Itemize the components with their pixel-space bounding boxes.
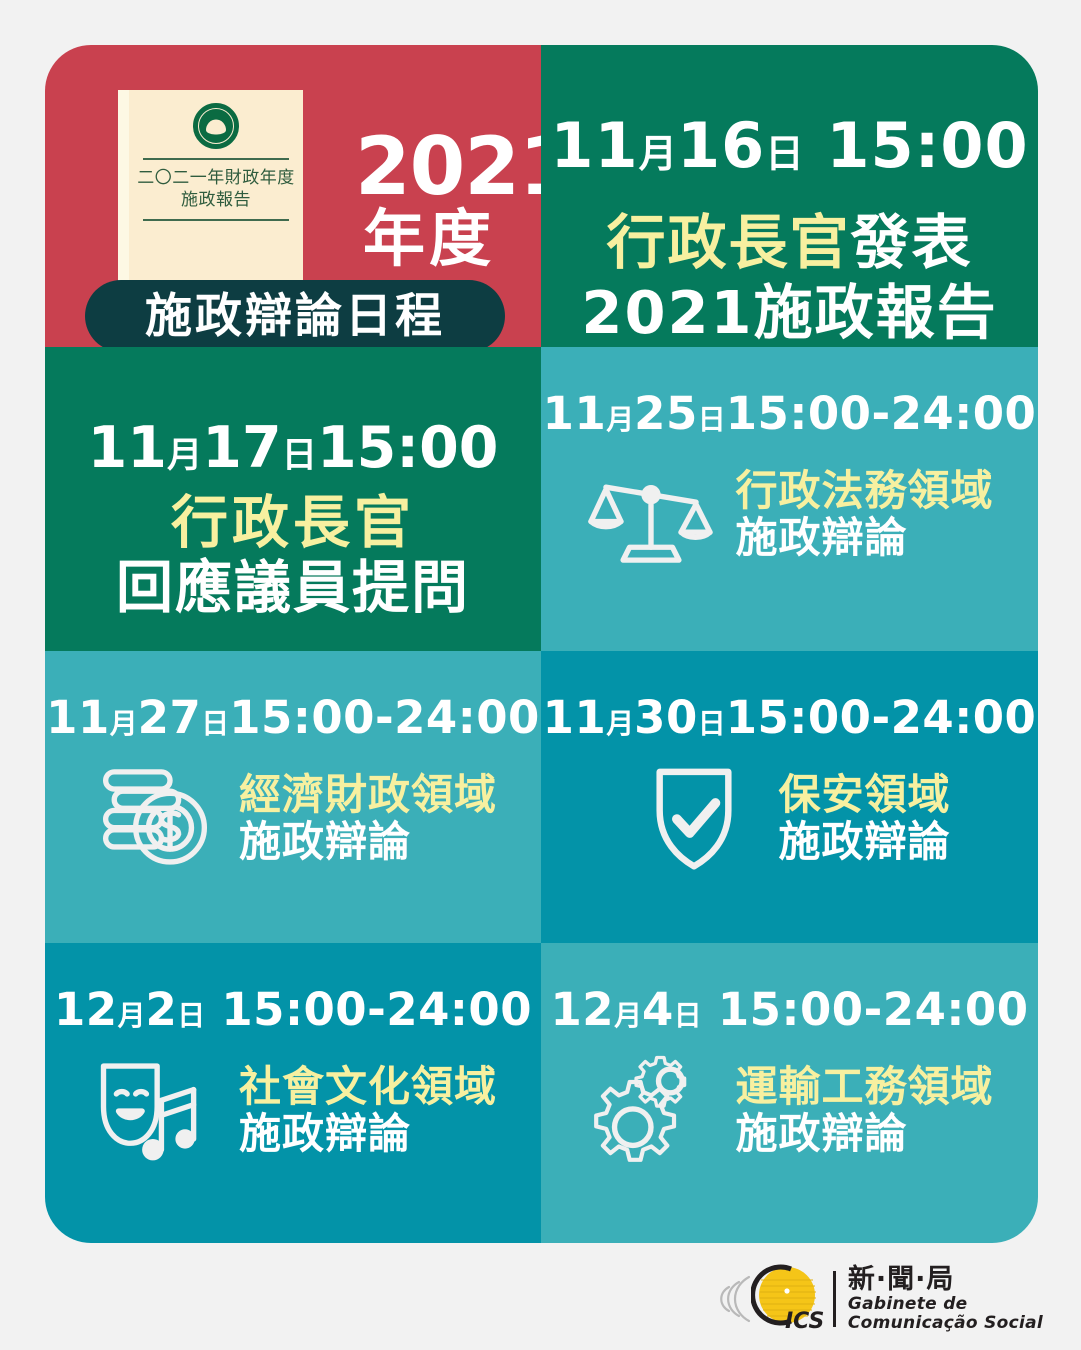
event-line2: 2021施政報告 — [541, 283, 1038, 342]
event-line2: 施政辯論 — [239, 1110, 497, 1157]
book-divider-bottom — [143, 219, 289, 221]
event-date: 12月4日 15:00-24:00 — [541, 987, 1038, 1032]
signal-waves-icon — [715, 1269, 755, 1329]
year-number: 2021 — [355, 127, 541, 207]
event-line1: 行政長官發表 — [541, 213, 1038, 272]
poster-root: 二〇二一年財政年度 施政報告 2021 年度 施政辯論日程 11月16日 15:… — [0, 0, 1081, 1350]
event-body: 行政法務領域 施政辯論 — [541, 455, 1038, 573]
event-body: 保安領域 施政辯論 — [541, 759, 1038, 877]
event-date: 11月17日15:00 — [45, 420, 541, 477]
event-cell-transport-public-works: 12月4日 15:00-24:00 運輸工務領域 施政辯論 — [541, 943, 1038, 1243]
org-name-pt-line2: Comunicação Social — [848, 1314, 1043, 1333]
event-date: 11月16日 15:00 — [541, 115, 1038, 177]
schedule-grid: 二〇二一年財政年度 施政報告 2021 年度 施政辯論日程 11月16日 15:… — [45, 45, 1038, 1243]
shield-check-icon — [628, 759, 760, 877]
event-line1-rest: 發表 — [851, 208, 973, 277]
event-line1: 社會文化領域 — [239, 1063, 497, 1110]
event-cell-ce-presents-report: 11月16日 15:00 行政長官發表 2021施政報告 — [541, 45, 1038, 347]
event-date: 12月2日 15:00-24:00 — [45, 987, 541, 1032]
event-text: 運輸工務領域 施政辯論 — [735, 1063, 993, 1157]
event-line1: 經濟財政領域 — [239, 771, 497, 818]
event-date: 11月30日15:00-24:00 — [541, 695, 1038, 740]
event-cell-ce-answers-questions: 11月17日15:00 行政長官 回應議員提問 — [45, 347, 541, 651]
event-cell-economy-finance: 11月27日15:00-24:00 經濟財政領 — [45, 651, 541, 943]
event-line2: 施政辯論 — [735, 514, 993, 561]
scales-of-justice-icon — [585, 455, 717, 573]
schedule-badge: 施政辯論日程 — [85, 280, 505, 347]
org-name-pt-line1: Gabinete de — [848, 1295, 1043, 1314]
ics-logo: ICS 新·聞·局 Gabinete de Comunicação Social — [715, 1260, 1043, 1338]
event-body: 社會文化領域 施政辯論 — [45, 1051, 541, 1169]
event-text: 經濟財政領域 施政辯論 — [239, 771, 497, 865]
book-title-line1: 二〇二一年財政年度 — [129, 167, 303, 190]
macau-sar-emblem-icon — [193, 103, 239, 149]
book-divider-top — [143, 158, 289, 160]
event-text: 保安領域 施政辯論 — [778, 771, 950, 865]
org-name-cn: 新·聞·局 — [848, 1265, 1043, 1295]
event-cell-security: 11月30日15:00-24:00 保安領域 施政辯論 — [541, 651, 1038, 943]
book-title-line2: 施政報告 — [129, 189, 303, 212]
event-body: 運輸工務領域 施政辯論 — [541, 1051, 1038, 1169]
year-suffix: 年度 — [363, 208, 495, 270]
event-cell-social-culture: 12月2日 15:00-24:00 — [45, 943, 541, 1243]
event-cell-admin-justice: 11月25日15:00-24:00 行政法務領 — [541, 347, 1038, 651]
event-body: 經濟財政領域 施政辯論 — [45, 759, 541, 877]
policy-report-book-cover: 二〇二一年財政年度 施政報告 — [118, 90, 303, 293]
event-text: 行政法務領域 施政辯論 — [735, 467, 993, 561]
event-line2: 回應議員提問 — [45, 560, 541, 617]
svg-text:ICS: ICS — [785, 1309, 824, 1334]
event-date: 11月25日15:00-24:00 — [541, 391, 1038, 436]
logo-divider — [833, 1271, 836, 1327]
schedule-badge-label: 施政辯論日程 — [145, 293, 445, 340]
event-line1-highlight: 行政長官 — [606, 208, 850, 277]
theatre-mask-music-icon — [89, 1051, 221, 1169]
event-line1: 運輸工務領域 — [735, 1063, 993, 1110]
event-date: 11月27日15:00-24:00 — [45, 695, 541, 740]
event-line2: 施政辯論 — [735, 1110, 993, 1157]
event-line2: 施政辯論 — [239, 818, 497, 865]
event-text: 社會文化領域 施政辯論 — [239, 1063, 497, 1157]
gears-icon — [585, 1051, 717, 1169]
event-line1: 行政長官 — [45, 495, 541, 552]
event-line1: 保安領域 — [778, 771, 950, 818]
title-cell: 二〇二一年財政年度 施政報告 2021 年度 施政辯論日程 — [45, 45, 541, 347]
event-line2: 施政辯論 — [778, 818, 950, 865]
coins-dollar-icon — [89, 759, 221, 877]
ics-mark-icon: ICS — [751, 1264, 827, 1334]
logo-text: 新·聞·局 Gabinete de Comunicação Social — [848, 1265, 1043, 1333]
event-line1: 行政法務領域 — [735, 467, 993, 514]
